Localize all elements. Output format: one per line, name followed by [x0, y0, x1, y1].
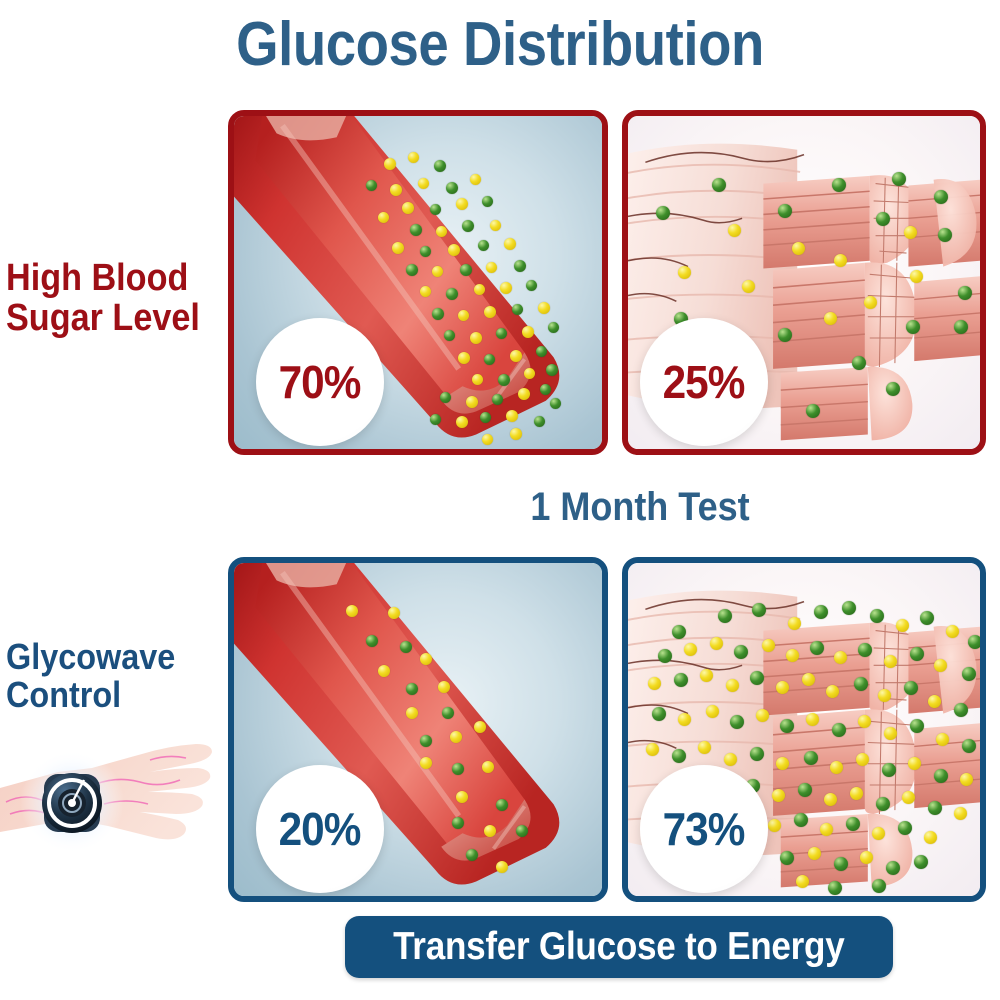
row-label-glycowave-control: Glycowave Control [6, 638, 222, 714]
transfer-glucose-banner[interactable]: Transfer Glucose to Energy [345, 916, 893, 978]
row-label-high-blood-sugar: High Blood Sugar Level [6, 258, 222, 339]
banner-label: Transfer Glucose to Energy [393, 925, 844, 969]
middle-caption: 1 Month Test [316, 485, 964, 530]
percent-value: 73% [663, 802, 745, 856]
panel-muscle-fiber-high-sugar: 25% [622, 110, 986, 455]
percent-badge-25: 25% [640, 318, 768, 446]
panel-blood-vessel-glycowave: 20% [228, 557, 608, 902]
panel-muscle-fiber-glycowave: 73% [622, 557, 986, 902]
percent-badge-20: 20% [256, 765, 384, 893]
percent-badge-73: 73% [640, 765, 768, 893]
panel-blood-vessel-high-sugar: 70% [228, 110, 608, 455]
percent-badge-70: 70% [256, 318, 384, 446]
percent-value: 25% [663, 355, 745, 409]
percent-value: 70% [279, 355, 361, 409]
infographic-root: Glucose Distribution High Blood Sugar Le… [0, 0, 1000, 1000]
glycowave-wrist-device-icon [0, 710, 215, 870]
percent-value: 20% [279, 802, 361, 856]
page-title: Glucose Distribution [60, 14, 940, 76]
